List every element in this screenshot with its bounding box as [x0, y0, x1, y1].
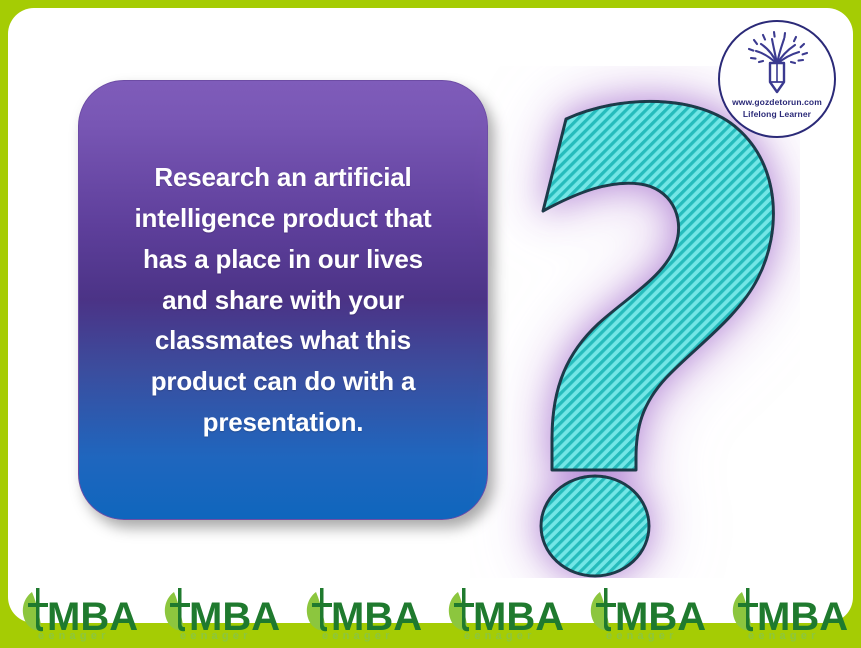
pencil-sprout-icon	[741, 30, 813, 96]
pencil-body	[770, 63, 784, 92]
question-mark-hook	[543, 101, 773, 470]
brand-logo: www.gozdetorun.com Lifelong Learner	[718, 20, 836, 138]
brand-tagline-text: Lifelong Learner	[743, 109, 811, 119]
prompt-panel: Research an artificial intelligence prod…	[78, 80, 488, 520]
question-mark-dot	[541, 476, 649, 576]
brand-url-text: www.gozdetorun.com	[732, 97, 822, 107]
slide-inner-card: Research an artificial intelligence prod…	[8, 8, 853, 623]
bottom-green-bar	[0, 626, 861, 648]
slide-canvas: Research an artificial intelligence prod…	[0, 0, 861, 648]
question-mark-graphic	[470, 66, 800, 578]
prompt-text: Research an artificial intelligence prod…	[109, 157, 458, 443]
